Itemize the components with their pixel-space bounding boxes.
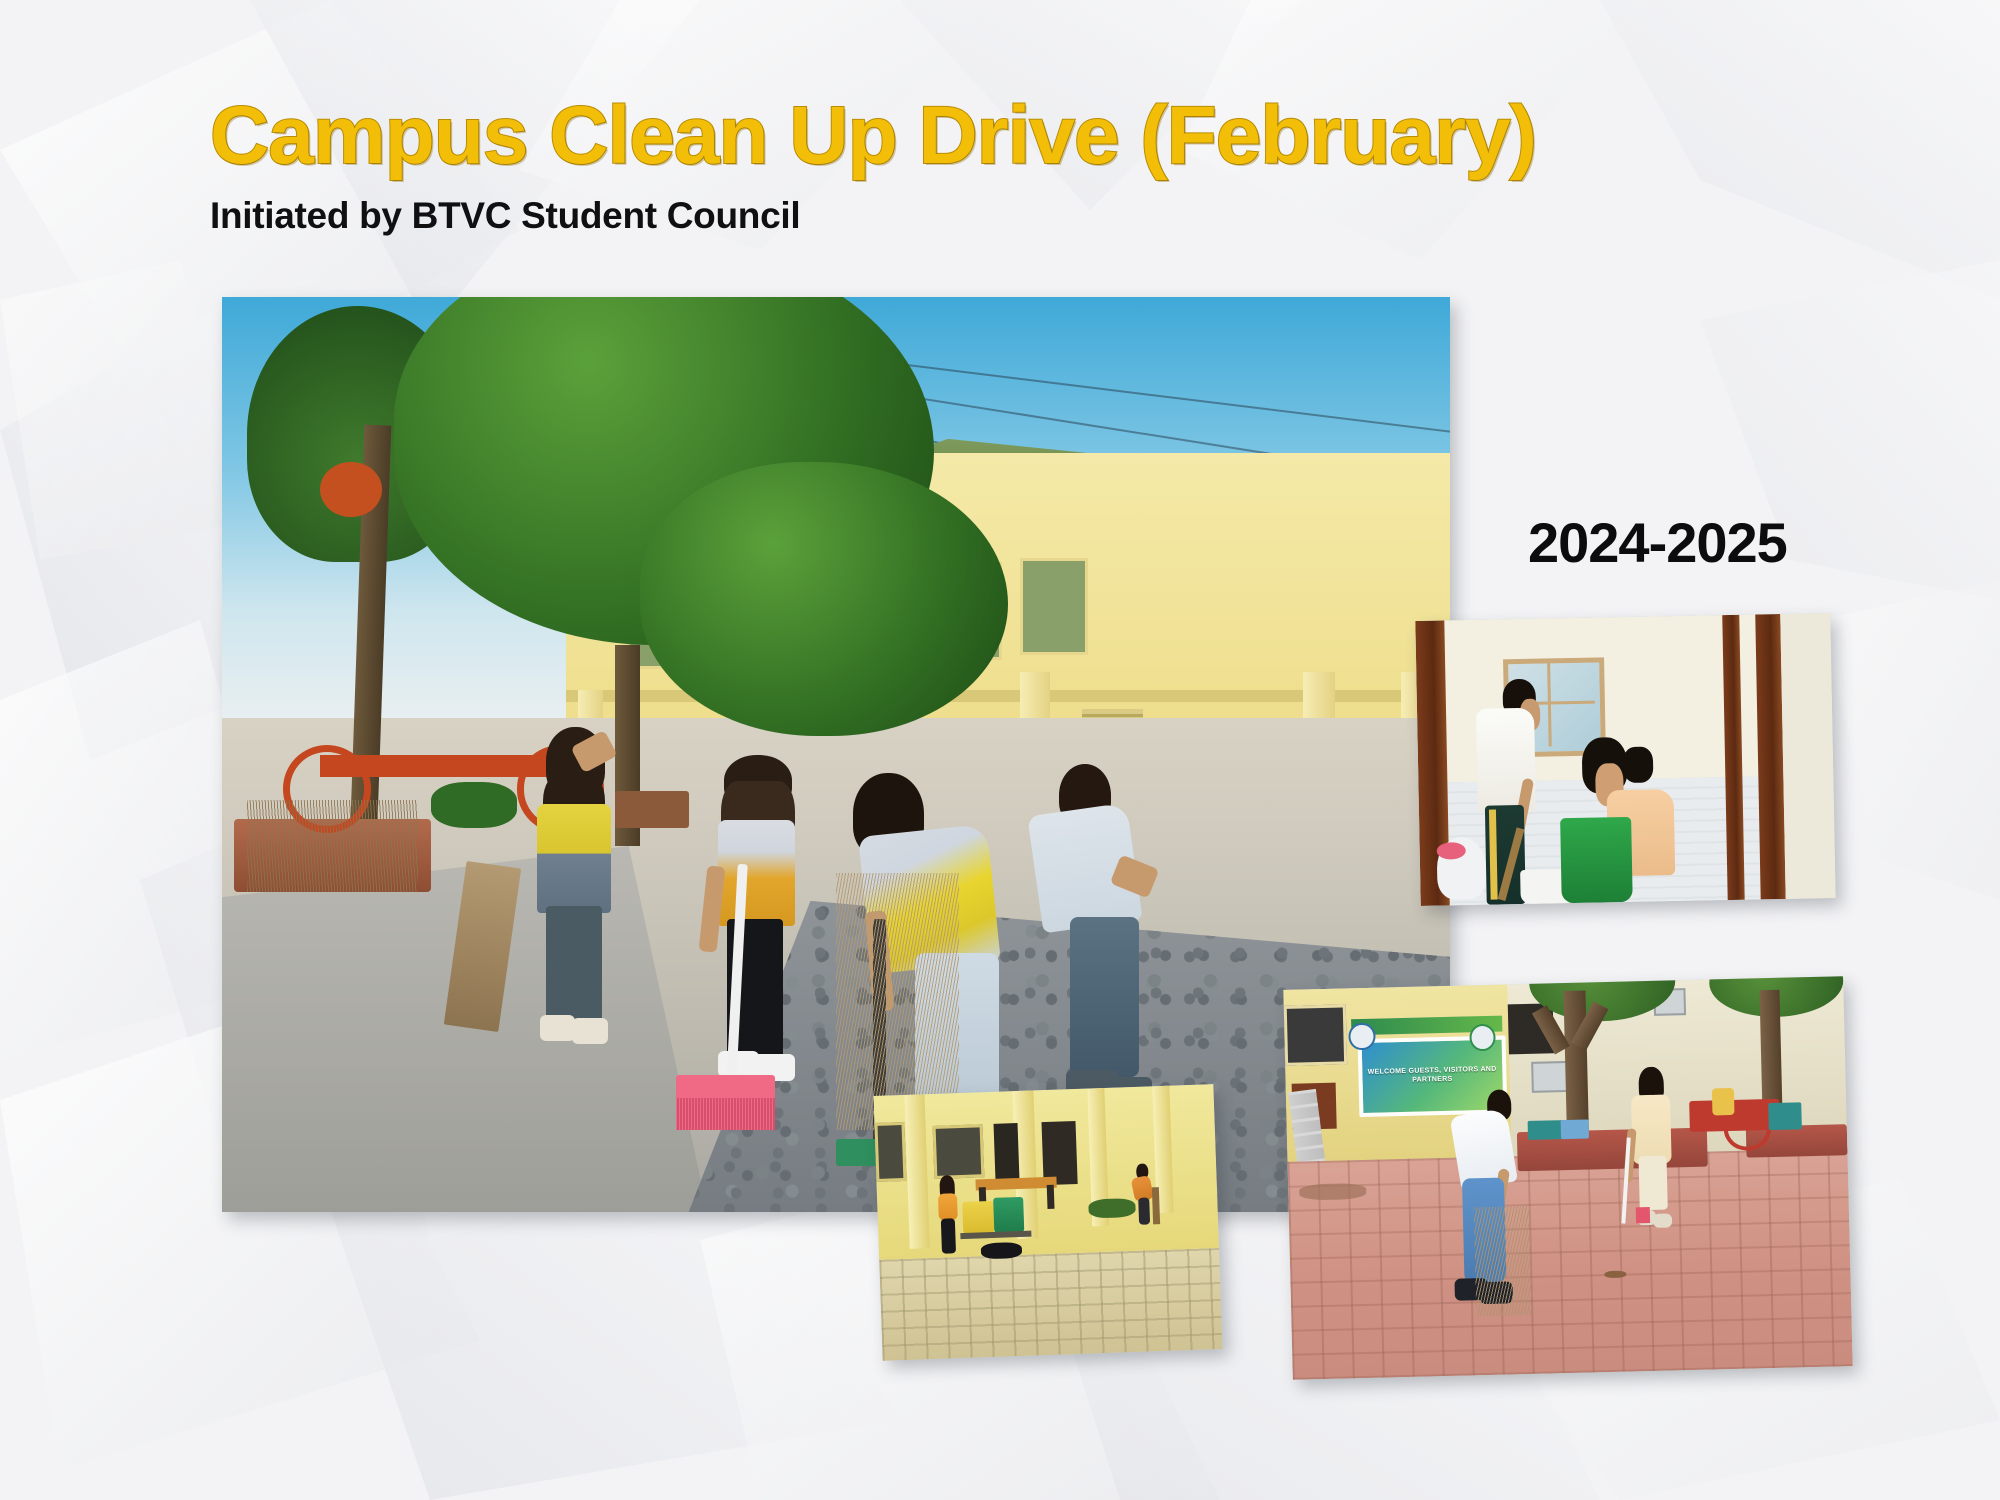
wall-right	[1780, 613, 1835, 899]
green-bucket	[1560, 816, 1632, 903]
broom-pile	[247, 800, 419, 892]
broom-bristles	[836, 873, 959, 1129]
courtyard-photo-scene	[873, 1084, 1222, 1361]
student-person	[689, 755, 836, 1084]
student-person	[504, 727, 651, 1047]
green-trash-bin	[993, 1197, 1025, 1235]
student-person	[931, 1175, 968, 1256]
restroom-photo	[1415, 613, 1835, 906]
tree-trunk	[1759, 989, 1781, 1106]
pink-broom-head	[1636, 1207, 1650, 1223]
plaza-photo-scene: WELCOME GUESTS, VISITORS AND PARTNERS	[1283, 976, 1852, 1380]
welcome-banner-text: WELCOME GUESTS, VISITORS AND PARTNERS	[1362, 1066, 1502, 1087]
main-photo	[222, 297, 1450, 1212]
table-leg	[1047, 1185, 1055, 1209]
barred-window	[874, 1121, 906, 1181]
barred-window	[1284, 1004, 1347, 1066]
swept-debris	[1299, 1183, 1367, 1200]
barred-window	[932, 1124, 984, 1179]
page-title: Campus Clean Up Drive (February)	[210, 95, 1610, 177]
broom-bristles	[1473, 1206, 1532, 1317]
pink-broom-bristles	[676, 1098, 774, 1130]
student-person	[1621, 1066, 1687, 1247]
teal-chair	[1768, 1102, 1802, 1130]
yellow-trash-bin	[962, 1201, 994, 1236]
courtyard-photo	[873, 1084, 1222, 1361]
student-person	[1008, 764, 1180, 1112]
swept-leaves	[1088, 1198, 1136, 1218]
restroom-photo-scene	[1415, 613, 1835, 906]
broom-handle	[1152, 1187, 1160, 1224]
trash-bag	[981, 1242, 1022, 1259]
school-year-label: 2024-2025	[1528, 510, 1787, 575]
stairwell	[1041, 1121, 1077, 1186]
seated-person	[1711, 1088, 1734, 1116]
building-window	[1020, 558, 1087, 656]
brick-walkway	[879, 1248, 1222, 1360]
main-photo-scene	[222, 297, 1450, 1212]
palm-fruit-cluster	[320, 462, 381, 517]
blue-container	[1561, 1119, 1589, 1139]
plaza-photo: WELCOME GUESTS, VISITORS AND PARTNERS	[1283, 976, 1852, 1380]
header: Campus Clean Up Drive (February) Initiat…	[210, 95, 1610, 237]
red-brick-plaza	[1288, 1148, 1853, 1380]
page-subtitle: Initiated by BTVC Student Council	[210, 195, 1610, 237]
